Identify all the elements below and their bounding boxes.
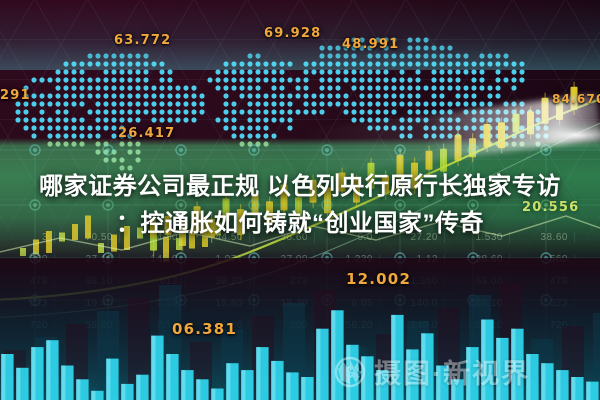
number-label: 12.002 — [346, 270, 411, 288]
watermark: 摄图·新视界 — [334, 352, 530, 391]
number-label: 26.417 — [118, 126, 175, 141]
number-label: 69.928 — [264, 26, 321, 41]
number-label: 48.991 — [342, 37, 399, 52]
number-label: 291 — [0, 88, 31, 103]
number-label: 63.772 — [114, 33, 171, 48]
watermark-text: 摄图·新视界 — [374, 352, 530, 391]
headline: 哪家证券公司最正规 以色列央行原行长独家专访 ：控通胀如何铸就“创业国家”传奇 — [0, 168, 600, 242]
number-label: 84.670 — [552, 92, 600, 106]
headline-line-2: ：控通胀如何铸就“创业国家”传奇 — [0, 205, 600, 242]
headline-line-1: 哪家证券公司最正规 以色列央行原行长独家专访 — [0, 168, 600, 205]
number-label: 06.381 — [172, 320, 237, 338]
banner-image: 370.5014.8044.5038.609.027.201.53038.603… — [0, 0, 600, 400]
aperture-icon — [334, 356, 366, 388]
